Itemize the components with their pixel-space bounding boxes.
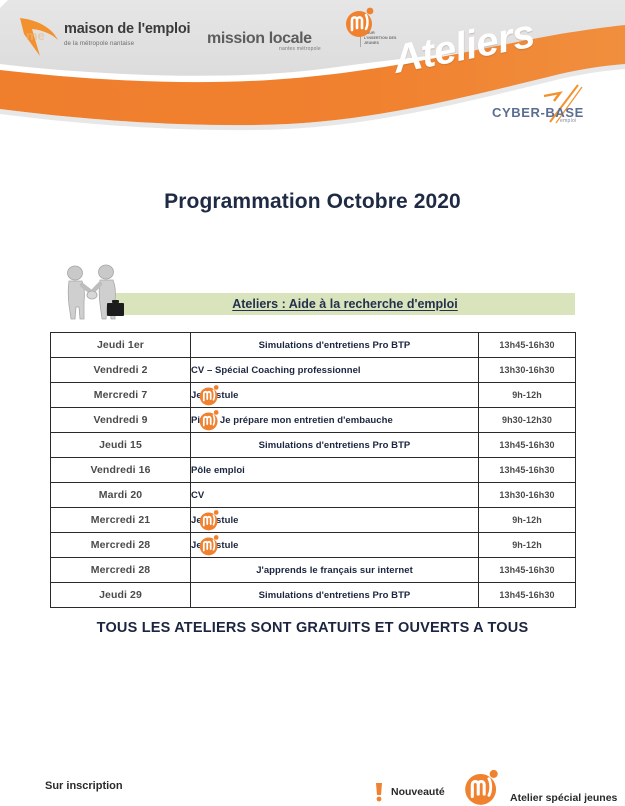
cell-event-label: Pôle emploi — [191, 465, 245, 476]
cell-day: Vendredi 16 — [51, 458, 191, 483]
mission-locale-m-icon — [199, 409, 221, 431]
handshake-figure-icon — [58, 264, 124, 322]
cell-event: CV – Spécial Coaching professionnel — [191, 358, 479, 383]
mission-locale-m-icon — [199, 509, 221, 531]
cell-day: Jeudi 15 — [51, 433, 191, 458]
cell-event-label: CV – Spécial Coaching professionnel — [191, 365, 361, 376]
cell-event: CV — [191, 483, 479, 508]
cell-time: 13h45-16h30 — [479, 583, 576, 608]
cell-day: Mardi 20 — [51, 483, 191, 508]
cell-time: 13h45-16h30 — [479, 458, 576, 483]
cell-day: Mercredi 21 — [51, 508, 191, 533]
table-row: Jeudi 15Simulations d'entretiens Pro BTP… — [51, 433, 576, 458]
cell-time: 13h30-16h30 — [479, 483, 576, 508]
table-row: Jeudi 29Simulations d'entretiens Pro BTP… — [51, 583, 576, 608]
cell-event-label: Simulations d'entretiens Pro BTP — [259, 440, 411, 451]
page-title: Programmation Octobre 2020 — [0, 190, 625, 214]
mission-locale-m-icon — [199, 384, 221, 406]
cell-event: Je postule — [191, 383, 479, 408]
cell-event: Pitch, Je prépare mon entretien d'embauc… — [191, 408, 479, 433]
schedule-table: Jeudi 1erSimulations d'entretiens Pro BT… — [50, 332, 576, 608]
cell-day: Jeudi 29 — [51, 583, 191, 608]
mission-locale-m-icon — [199, 534, 221, 556]
cell-time: 9h-12h — [479, 383, 576, 408]
cell-event: J'apprends le français sur internet — [191, 558, 479, 583]
cell-event: Pôle emploi — [191, 458, 479, 483]
schedule-table-body: Jeudi 1erSimulations d'entretiens Pro BT… — [51, 333, 576, 608]
mission-locale-m-icon — [462, 768, 504, 806]
table-row: Mercredi 28 Je postule9h-12h — [51, 533, 576, 558]
logo-cyberbase-subtitle: emploi — [560, 118, 577, 124]
cell-event: Simulations d'entretiens Pro BTP — [191, 433, 479, 458]
legend-youth-item: Atelier spécial jeunes — [462, 768, 617, 806]
cell-event-label: Simulations d'entretiens Pro BTP — [259, 340, 411, 351]
mission-locale-m-icon — [345, 6, 377, 38]
table-row: Jeudi 1erSimulations d'entretiens Pro BT… — [51, 333, 576, 358]
cell-day: Mercredi 7 — [51, 383, 191, 408]
cell-event-label: Pitch, Je prépare mon entretien d'embauc… — [191, 415, 393, 426]
cell-time: 13h45-16h30 — [479, 558, 576, 583]
cell-event-label: Simulations d'entretiens Pro BTP — [259, 590, 411, 601]
cell-event: Simulations d'entretiens Pro BTP — [191, 333, 479, 358]
table-row: Mardi 20CV13h30-16h30 — [51, 483, 576, 508]
logo-mission-locale: mission locale nantes métropole POUR L'I… — [207, 8, 407, 60]
table-row: Mercredi 21 Je postule9h-12h — [51, 508, 576, 533]
cell-day: Vendredi 2 — [51, 358, 191, 383]
table-row: Mercredi 28J'apprends le français sur in… — [51, 558, 576, 583]
page-header: me maison de l'emploi de la métropole na… — [0, 0, 625, 140]
cell-day: Mercredi 28 — [51, 558, 191, 583]
swoosh-icon: me — [18, 14, 62, 60]
cell-time: 13h30-16h30 — [479, 358, 576, 383]
cell-event-label: J'apprends le français sur internet — [256, 565, 413, 576]
logo-maison-emploi: me maison de l'emploi de la métropole na… — [18, 14, 198, 64]
cell-event: Je postule — [191, 533, 479, 558]
table-row: Mercredi 7 Je postule9h-12h — [51, 383, 576, 408]
free-workshops-notice: TOUS LES ATELIERS SONT GRATUITS ET OUVER… — [0, 620, 625, 636]
section-heading: Ateliers : Aide à la recherche d'emploi — [115, 294, 575, 314]
cell-event-label: CV — [191, 490, 204, 501]
exclamation-icon — [372, 782, 386, 802]
svg-text:me: me — [26, 28, 45, 43]
legend-youth-label: Atelier spécial jeunes — [510, 792, 617, 806]
logo-cyberbase: CYBER-BASE emploi — [492, 88, 617, 128]
legend-new-item: Nouveauté — [372, 782, 445, 802]
cell-event: Je postule — [191, 508, 479, 533]
table-row: Vendredi 9 Pitch, Je prépare mon entreti… — [51, 408, 576, 433]
cell-time: 13h45-16h30 — [479, 333, 576, 358]
cell-event: Simulations d'entretiens Pro BTP — [191, 583, 479, 608]
cell-day: Mercredi 28 — [51, 533, 191, 558]
cell-day: Jeudi 1er — [51, 333, 191, 358]
legend-new-label: Nouveauté — [391, 786, 445, 798]
table-row: Vendredi 2CV – Spécial Coaching professi… — [51, 358, 576, 383]
cell-time: 9h30-12h30 — [479, 408, 576, 433]
cell-time: 9h-12h — [479, 508, 576, 533]
legend-registration-note: Sur inscription — [45, 780, 123, 792]
cell-time: 13h45-16h30 — [479, 433, 576, 458]
table-row: Vendredi 16Pôle emploi13h45-16h30 — [51, 458, 576, 483]
logo-mission-locale-subtitle: nantes métropole — [279, 46, 321, 52]
logo-maison-title: maison de l'emploi — [64, 22, 190, 37]
cell-day: Vendredi 9 — [51, 408, 191, 433]
logo-maison-subtitle: de la métropole nantaise — [64, 40, 190, 47]
cell-time: 9h-12h — [479, 533, 576, 558]
